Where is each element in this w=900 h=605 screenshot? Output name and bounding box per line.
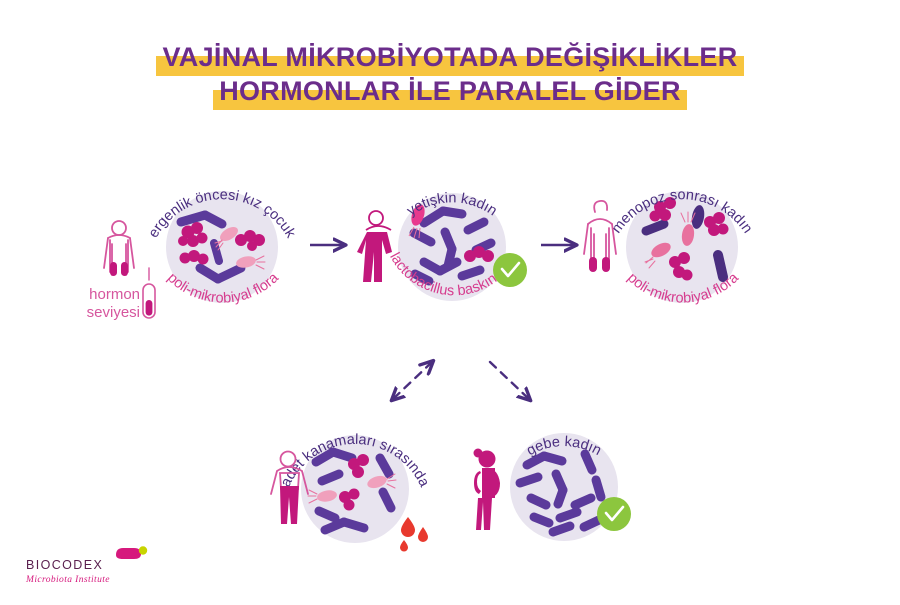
stage-during-menstruation[interactable]: adet kanamaları sırasında [271,432,433,552]
status-badge-pregnant-check [597,497,631,531]
diagram-svg: ergenlik öncesi kız çocuk poli-mikrobiya… [0,0,900,605]
hormone-fill-right [121,262,128,276]
stage-pregnant-woman[interactable]: gebe kadın [474,433,632,541]
pregnant-woman-figure [474,449,501,531]
stage-adult-woman[interactable]: yetişkin kadın lactobacillus baskın flor… [357,190,527,301]
arrow-adult-to-pregnant [490,362,530,400]
menopause-hormone-fill-right [602,257,610,272]
adult-woman-figure [357,211,392,282]
hormone-fill-left [110,262,117,276]
arrow-adult-to-menstruation [392,362,432,400]
blood-drops-icon [400,517,428,552]
menopause-hormone-fill-left [589,257,597,272]
pre-pubertal-girl-figure [104,221,134,275]
stage-pre-pubertal-girl[interactable]: ergenlik öncesi kız çocuk poli-mikrobiya… [104,187,299,318]
stage-post-menopausal-woman[interactable]: menopoz sonrası kadın poli-mikrobiyal fl… [584,187,755,306]
infographic-canvas: VAJİNAL MİKROBİYOTADA DEĞİŞİKLİKLER HORM… [0,0,900,605]
status-badge-adult-check [493,253,527,287]
post-menopausal-woman-figure [584,201,616,270]
hormone-level-gauge [143,268,155,318]
